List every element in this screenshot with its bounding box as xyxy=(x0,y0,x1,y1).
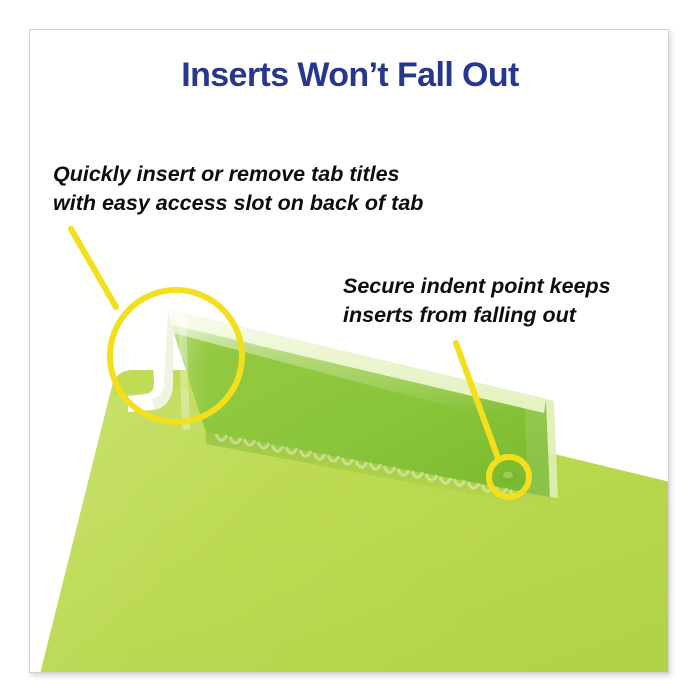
callout-indent-point-line2: inserts from falling out xyxy=(343,301,611,330)
screenshot-canvas: Inserts Won’t Fall Out Quickly insert or… xyxy=(0,0,700,700)
callout-text-indent-point: Secure indent point keeps inserts from f… xyxy=(343,272,611,331)
callout-access-slot-line2: with easy access slot on back of tab xyxy=(53,189,423,218)
product-photograph xyxy=(30,30,669,673)
callout-text-access-slot: Quickly insert or remove tab titles with… xyxy=(53,160,423,219)
callout-indent-point-line1: Secure indent point keeps xyxy=(343,272,611,301)
callout-access-slot-line1: Quickly insert or remove tab titles xyxy=(53,160,423,189)
page-title: Inserts Won’t Fall Out xyxy=(30,56,669,95)
product-photo-card: Inserts Won’t Fall Out Quickly insert or… xyxy=(29,29,669,673)
divider-tab-band xyxy=(30,30,669,673)
